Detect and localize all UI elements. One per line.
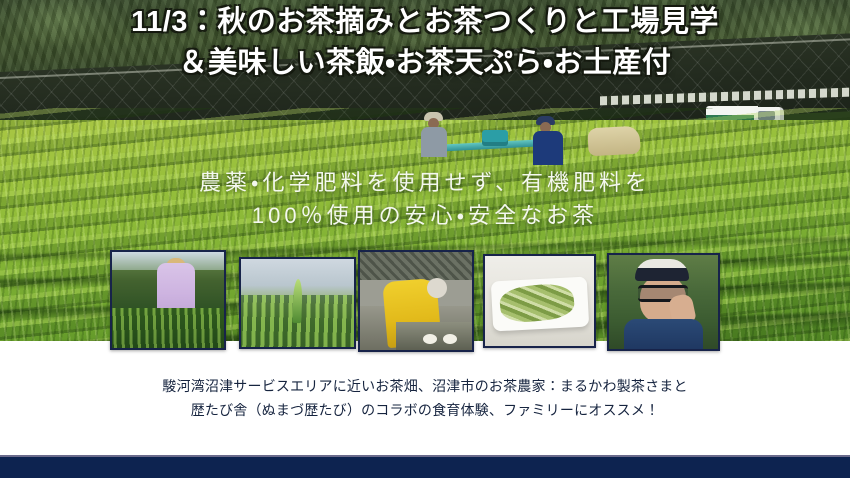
gallery-thumb-3[interactable]: [358, 250, 474, 352]
tea-harvester-engine: [482, 130, 508, 146]
gallery-thumb-1[interactable]: [110, 250, 226, 350]
yellow-jacket-worker-photo: [360, 252, 472, 350]
tea-collection-bag: [587, 126, 640, 157]
slide-root: 11/3：秋のお茶摘みとお茶つくりと工場見学 ＆美味しい茶飯・お茶天ぷら・お土産…: [0, 0, 850, 478]
gallery-thumb-4[interactable]: [483, 254, 596, 348]
gallery-thumb-2[interactable]: [239, 257, 356, 349]
tea-field-woman-photo: [112, 252, 224, 348]
tea-leaf-tempura-plate-photo: [485, 256, 594, 346]
caption-line-1: 駿河湾沼津サービスエリアに近いお茶畑、沼津市のお茶農家：まるかわ製茶さまと: [0, 374, 850, 398]
gallery-thumb-5[interactable]: [607, 253, 720, 351]
slide-caption: 駿河湾沼津サービスエリアに近いお茶畑、沼津市のお茶農家：まるかわ製茶さまと 歴た…: [0, 374, 850, 422]
man-tasting-tea-leaf-photo: [609, 255, 718, 349]
tea-shoots-sky-photo: [241, 259, 354, 347]
caption-line-2: 歴たび舎（ぬまづ歴たび）のコラボの食育体験、ファミリーにオススメ！: [0, 398, 850, 422]
footer-bar: [0, 457, 850, 478]
